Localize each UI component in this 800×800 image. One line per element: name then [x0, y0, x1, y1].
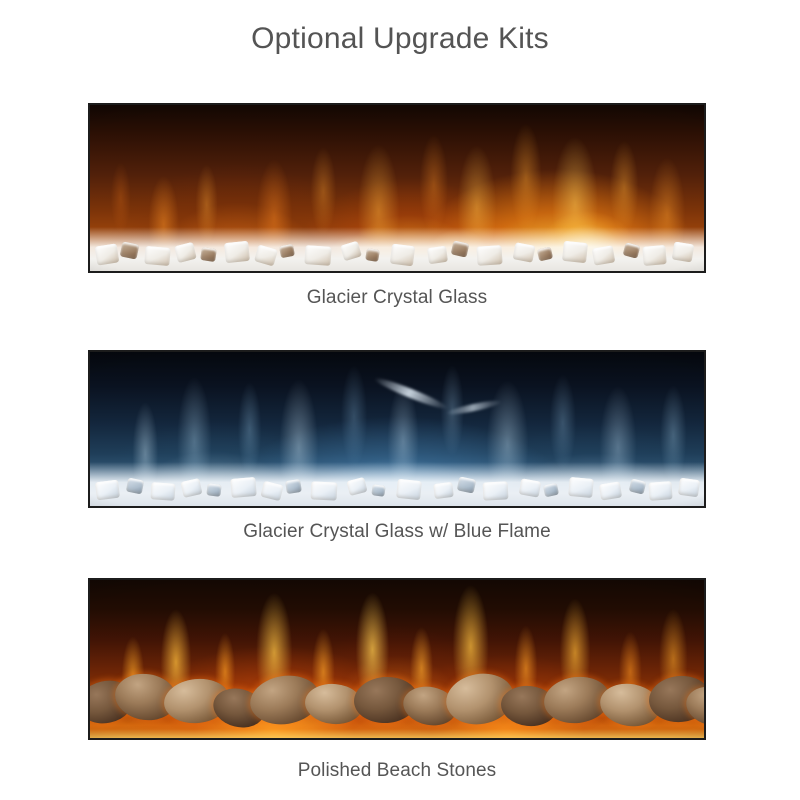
kit-image-polished-beach-stones [88, 578, 706, 740]
kit-caption-polished-beach-stones: Polished Beach Stones [88, 760, 706, 782]
crystal-glass-bed [90, 227, 704, 271]
flame-scene-blue [90, 352, 704, 506]
kit-image-glacier-crystal-glass-blue-flame [88, 350, 706, 508]
beach-stone-group [90, 656, 704, 738]
flame-scene-ember [90, 580, 704, 738]
kit-image-glacier-crystal-glass [88, 103, 706, 273]
crystal-chunk-group [90, 227, 704, 271]
flame-scene-amber [90, 105, 704, 271]
kit-caption-glacier-crystal-glass: Glacier Crystal Glass [88, 287, 706, 309]
kit-item-polished-beach-stones: Polished Beach Stones [88, 578, 706, 782]
upgrade-kits-page: Optional Upgrade Kits [0, 0, 800, 800]
page-title: Optional Upgrade Kits [0, 22, 800, 56]
kit-item-glacier-crystal-glass: Glacier Crystal Glass [88, 103, 706, 309]
kit-caption-glacier-crystal-glass-blue-flame: Glacier Crystal Glass w/ Blue Flame [88, 521, 706, 543]
kit-item-glacier-crystal-glass-blue-flame: Glacier Crystal Glass w/ Blue Flame [88, 350, 706, 543]
crystal-chunk-group [90, 462, 704, 506]
crystal-glass-bed [90, 462, 704, 506]
